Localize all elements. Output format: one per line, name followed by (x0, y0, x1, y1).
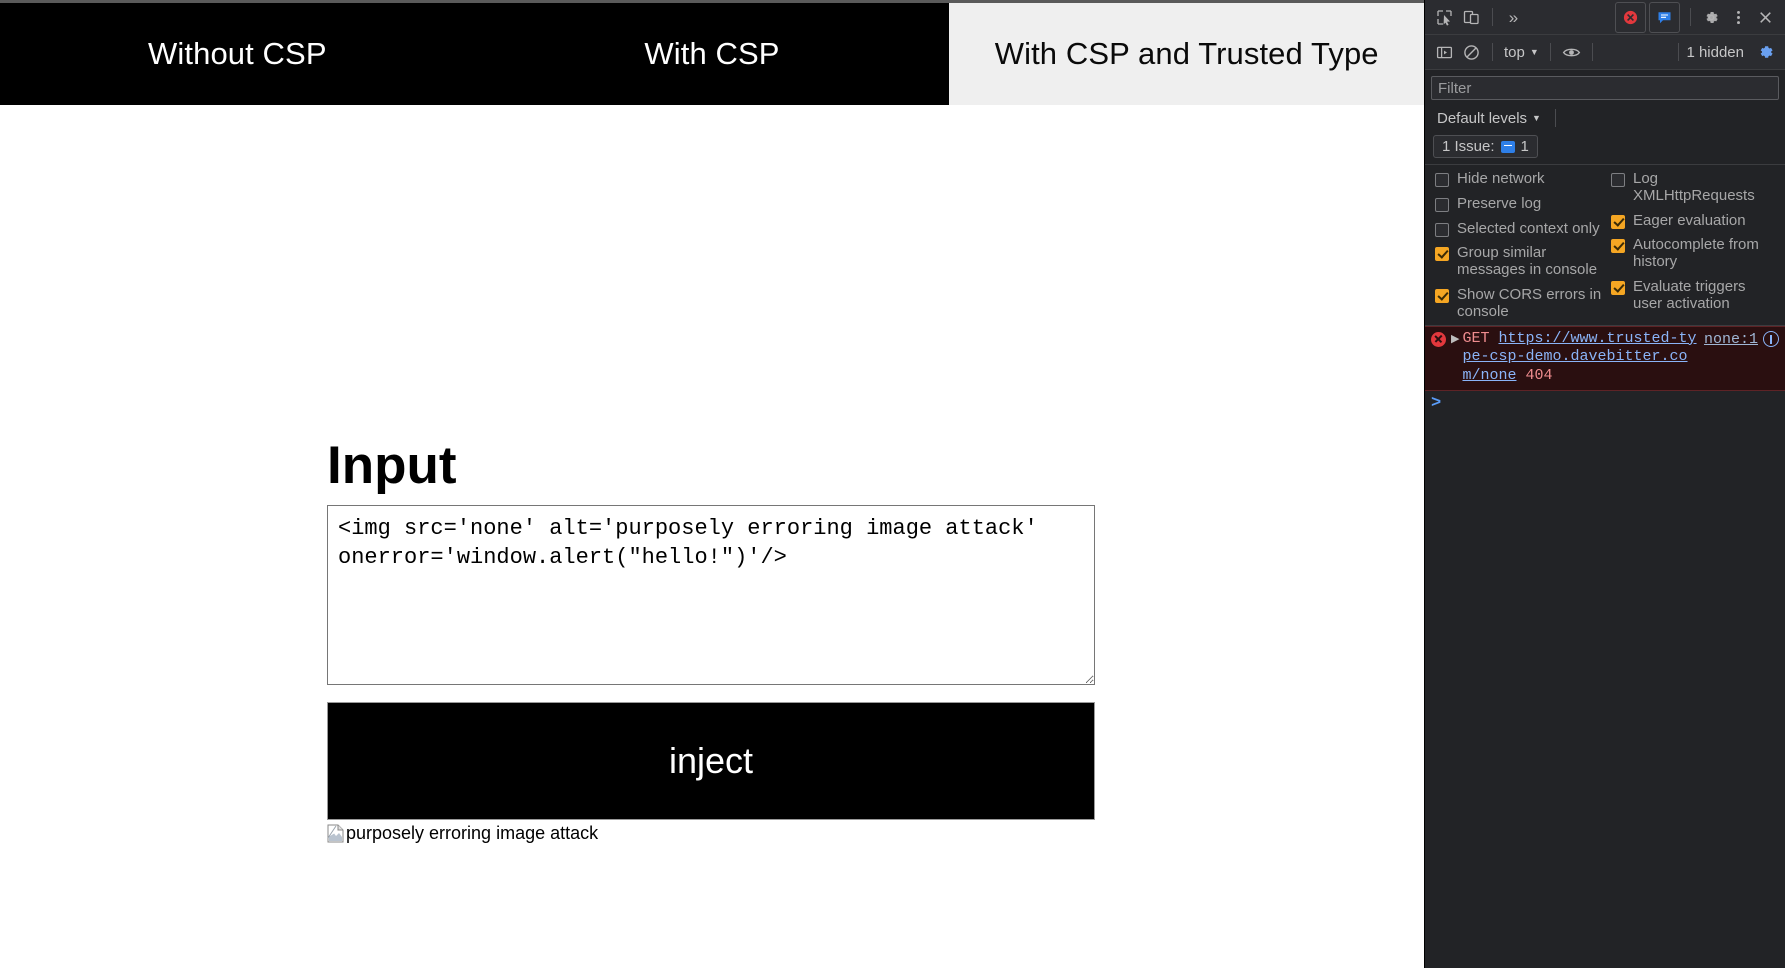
issues-badge-icon (1501, 141, 1515, 153)
setting-autocomplete-from-history[interactable]: Autocomplete from history (1605, 237, 1781, 271)
toolbar-divider (1492, 8, 1493, 26)
checkbox[interactable] (1611, 215, 1625, 229)
checkbox[interactable] (1611, 173, 1625, 187)
chevron-down-icon: ▼ (1530, 47, 1539, 57)
issues-count-button[interactable] (1649, 2, 1680, 33)
checkbox[interactable] (1435, 247, 1449, 261)
log-level-label: Default levels (1437, 110, 1527, 127)
tab-bar: Without CSP With CSP With CSP and Truste… (0, 0, 1424, 105)
setting-group-similar-messages[interactable]: Group similar messages in console (1429, 245, 1605, 279)
console-prompt[interactable]: > (1425, 391, 1785, 417)
checkbox[interactable] (1435, 198, 1449, 212)
issues-chip-label: 1 Issue: (1442, 138, 1495, 155)
checkbox[interactable] (1435, 289, 1449, 303)
inspect-element-icon[interactable] (1431, 4, 1458, 31)
close-icon[interactable] (1752, 4, 1779, 31)
live-expression-icon[interactable] (1558, 39, 1585, 66)
hidden-messages-label: 1 hidden (1686, 44, 1744, 61)
reload-request-icon[interactable] (1763, 331, 1779, 347)
web-page: Without CSP With CSP With CSP and Truste… (0, 0, 1424, 968)
console-toolbar: top ▼ 1 hidden (1425, 35, 1785, 70)
log-levels-bar: Default levels ▼ (1425, 104, 1785, 132)
tab-with-csp[interactable]: With CSP (475, 3, 950, 105)
issues-bar: 1 Issue: 1 (1425, 132, 1785, 165)
console-settings-right-column: Log XMLHttpRequests Eager evaluation Aut… (1605, 171, 1781, 321)
checkbox[interactable] (1611, 281, 1625, 295)
console-toolbar-divider-3 (1592, 43, 1593, 61)
payload-input[interactable]: <img src='none' alt='purposely erroring … (327, 505, 1095, 685)
console-error-text: GET https://www.trusted-type-csp-demo.da… (1462, 330, 1704, 386)
devtools-main-toolbar: » (1425, 0, 1785, 35)
issues-chip[interactable]: 1 Issue: 1 (1433, 135, 1538, 158)
expand-arrow-icon[interactable]: ▶ (1451, 332, 1459, 345)
console-message-list: ▶ GET https://www.trusted-type-csp-demo.… (1425, 326, 1785, 968)
setting-label: Show CORS errors in console (1457, 287, 1602, 321)
log-level-selector[interactable]: Default levels ▼ (1433, 110, 1545, 127)
tab-with-csp-and-trusted-type[interactable]: With CSP and Trusted Type (949, 3, 1424, 105)
setting-label: Eager evaluation (1633, 213, 1746, 230)
setting-evaluate-triggers-user-activation[interactable]: Evaluate triggers user activation (1605, 279, 1781, 313)
devtools-panel: » (1424, 0, 1785, 968)
gear-icon[interactable] (1698, 4, 1725, 31)
setting-label: Evaluate triggers user activation (1633, 279, 1778, 313)
setting-label: Log XMLHttpRequests (1633, 171, 1778, 205)
console-error-meta: none:1 (1704, 330, 1781, 348)
kebab-menu-icon[interactable] (1725, 4, 1752, 31)
context-selector[interactable]: top ▼ (1500, 44, 1543, 61)
tab-label: With CSP (644, 36, 779, 72)
filter-input[interactable] (1431, 76, 1779, 100)
console-settings-left-column: Hide network Preserve log Selected conte… (1429, 171, 1605, 321)
http-method: GET (1462, 330, 1489, 347)
setting-hide-network[interactable]: Hide network (1429, 171, 1605, 188)
console-settings-panel: Hide network Preserve log Selected conte… (1425, 165, 1785, 326)
setting-show-cors-errors[interactable]: Show CORS errors in console (1429, 287, 1605, 321)
console-settings-gear-icon[interactable] (1752, 39, 1779, 66)
issues-badge-icon (1651, 4, 1678, 31)
device-toolbar-icon[interactable] (1458, 4, 1485, 31)
setting-preserve-log[interactable]: Preserve log (1429, 196, 1605, 213)
console-sidebar-icon[interactable] (1431, 39, 1458, 66)
more-panels-icon[interactable]: » (1500, 4, 1527, 31)
http-status: 404 (1526, 367, 1553, 384)
tab-label: With CSP and Trusted Type (995, 36, 1379, 72)
console-toolbar-divider (1492, 43, 1493, 61)
console-filter-bar (1425, 70, 1785, 104)
checkbox[interactable] (1435, 173, 1449, 187)
setting-label: Autocomplete from history (1633, 237, 1778, 271)
setting-label: Preserve log (1457, 196, 1541, 213)
broken-image-icon (327, 824, 344, 843)
error-source-link[interactable]: none:1 (1704, 331, 1758, 348)
chevron-down-icon: ▼ (1532, 113, 1541, 123)
setting-label: Group similar messages in console (1457, 245, 1602, 279)
clear-console-icon[interactable] (1458, 39, 1485, 66)
checkbox[interactable] (1611, 239, 1625, 253)
setting-label: Hide network (1457, 171, 1545, 188)
console-toolbar-divider-4 (1678, 43, 1679, 61)
issues-chip-count: 1 (1521, 138, 1529, 155)
error-count-button[interactable] (1615, 2, 1646, 33)
console-toolbar-divider-2 (1550, 43, 1551, 61)
request-url-link[interactable]: https://www.trusted-type-csp-demo.davebi… (1462, 330, 1696, 385)
toolbar-divider-2 (1690, 8, 1691, 26)
error-icon (1431, 332, 1446, 347)
setting-selected-context-only[interactable]: Selected context only (1429, 221, 1605, 238)
injected-broken-image: purposely erroring image attack (327, 823, 598, 844)
prompt-caret-icon: > (1431, 394, 1441, 413)
console-error-message[interactable]: ▶ GET https://www.trusted-type-csp-demo.… (1425, 326, 1785, 391)
page-title: Input (327, 439, 457, 492)
tab-label: Without CSP (148, 36, 327, 72)
context-selector-label: top (1504, 44, 1525, 61)
checkbox[interactable] (1435, 223, 1449, 237)
levels-divider (1555, 109, 1556, 127)
screen: Without CSP With CSP With CSP and Truste… (0, 0, 1785, 968)
broken-image-alt-text: purposely erroring image attack (346, 823, 598, 844)
setting-label: Selected context only (1457, 221, 1600, 238)
inject-button[interactable]: inject (327, 702, 1095, 820)
tab-without-csp[interactable]: Without CSP (0, 3, 475, 105)
setting-eager-evaluation[interactable]: Eager evaluation (1605, 213, 1781, 230)
setting-log-xmlhttprequests[interactable]: Log XMLHttpRequests (1605, 171, 1781, 205)
more-panels-glyph: » (1509, 9, 1518, 26)
inject-button-label: inject (669, 740, 753, 782)
error-badge-icon (1617, 4, 1644, 31)
